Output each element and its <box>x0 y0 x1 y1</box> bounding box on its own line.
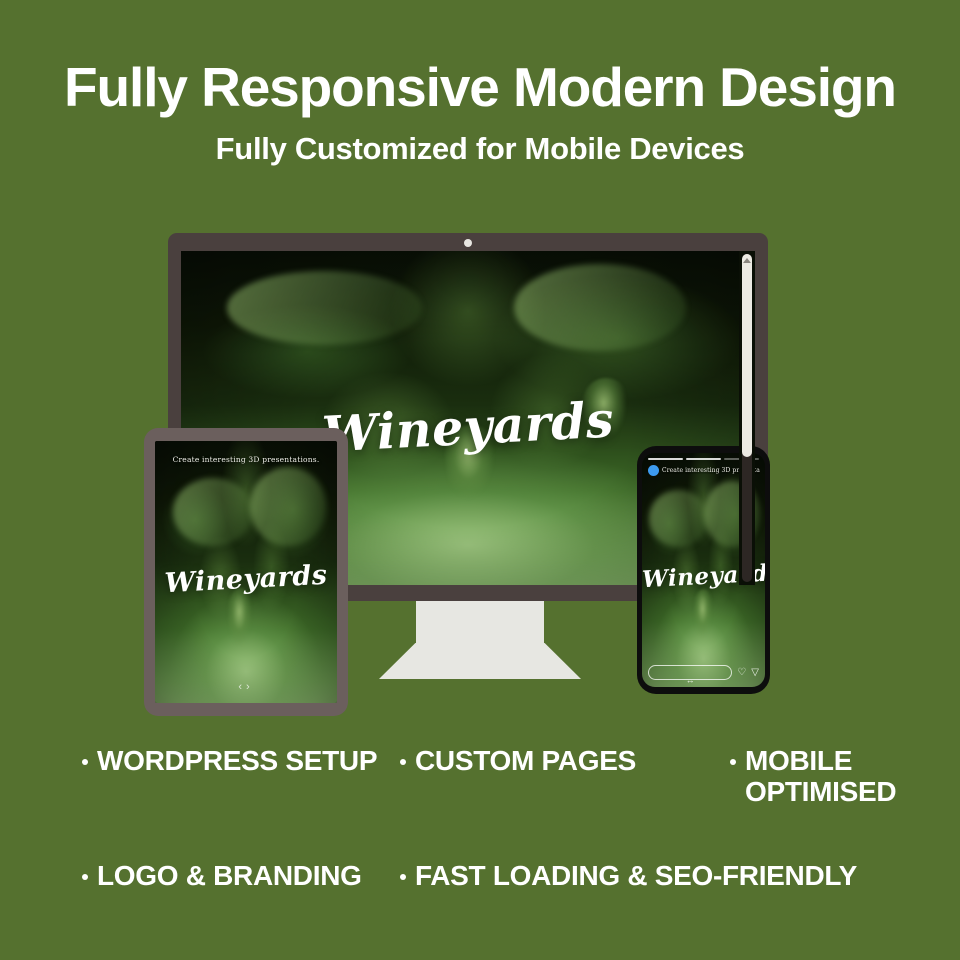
feature-item: WORDPRESS SETUP <box>82 745 400 808</box>
bullet-icon <box>400 759 406 765</box>
feature-item: LOGO & BRANDING <box>82 860 400 891</box>
feature-label: MOBILE OPTIMISED <box>745 745 942 808</box>
feature-item: CUSTOM PAGES <box>400 745 730 808</box>
scroll-up-arrow-icon[interactable] <box>743 258 751 263</box>
story-footer: ↔ ♡ ▽ <box>648 665 759 680</box>
scrollbar-track[interactable] <box>742 254 752 582</box>
promo-poster: Fully Responsive Modern Design Fully Cus… <box>0 0 960 960</box>
message-input[interactable]: ↔ <box>648 665 732 680</box>
feature-list: WORDPRESS SETUP CUSTOM PAGES MOBILE OPTI… <box>82 745 942 891</box>
feature-label: LOGO & BRANDING <box>97 860 362 891</box>
story-segment[interactable] <box>686 458 721 460</box>
tablet: Create interesting 3D presentations. Win… <box>144 428 348 716</box>
next-arrow-icon[interactable]: › <box>246 681 254 693</box>
monitor-stand-base <box>379 643 581 679</box>
heart-icon[interactable]: ♡ <box>737 668 746 678</box>
bullet-icon <box>82 759 88 765</box>
story-segment[interactable] <box>648 458 683 460</box>
send-icon[interactable]: ▽ <box>751 668 759 678</box>
bullet-icon <box>730 759 736 765</box>
feature-label: WORDPRESS SETUP <box>97 745 377 776</box>
tablet-screen: Create interesting 3D presentations. Win… <box>155 441 337 703</box>
prev-arrow-icon[interactable]: ‹ <box>238 681 246 693</box>
page-subtitle: Fully Customized for Mobile Devices <box>0 132 960 166</box>
monitor-stand-neck <box>416 601 544 649</box>
bullet-icon <box>400 874 406 880</box>
bullet-icon <box>82 874 88 880</box>
page-title: Fully Responsive Modern Design <box>0 58 960 116</box>
tablet-caption: Create interesting 3D presentations. <box>155 455 337 464</box>
poster-header: Fully Responsive Modern Design Fully Cus… <box>0 0 960 166</box>
scrollbar-thumb[interactable] <box>742 254 752 457</box>
feature-item: MOBILE OPTIMISED <box>730 745 942 808</box>
tablet-carousel-nav[interactable]: ‹› <box>155 681 337 693</box>
webcam-icon <box>464 239 472 247</box>
feature-item: FAST LOADING & SEO-FRIENDLY <box>400 860 942 891</box>
feature-label: CUSTOM PAGES <box>415 745 636 776</box>
vineyard-photo <box>155 441 337 703</box>
avatar[interactable] <box>648 465 659 476</box>
scrollbar[interactable] <box>739 251 755 585</box>
swipe-arrow-icon: ↔ <box>649 676 731 685</box>
feature-label: FAST LOADING & SEO-FRIENDLY <box>415 860 857 891</box>
device-mockup-stage: Wineyards Create interesting 3D presenta… <box>0 228 960 738</box>
